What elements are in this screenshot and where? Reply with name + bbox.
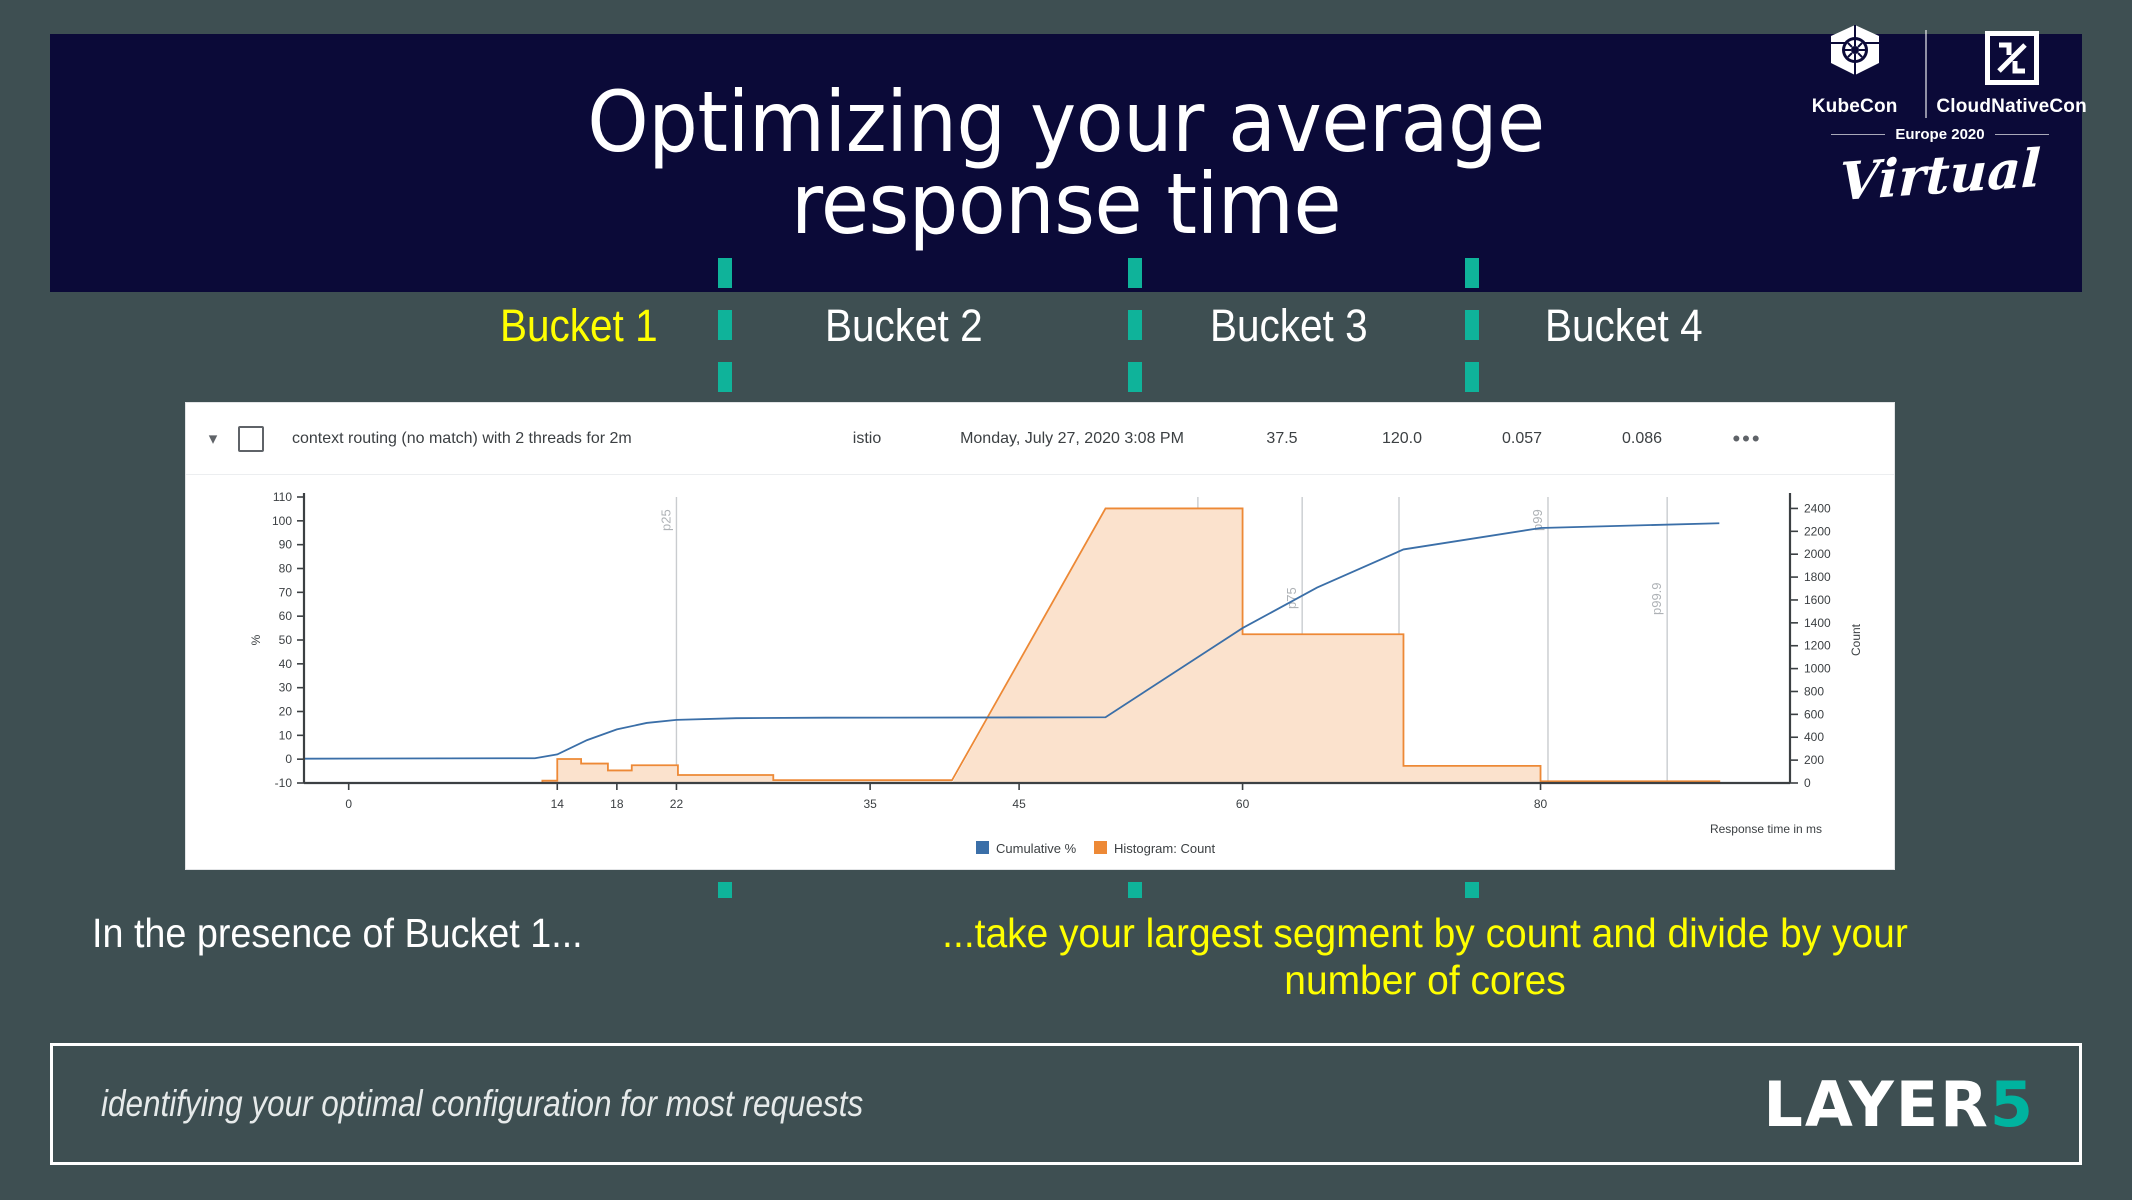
page-title: Optimizing your average response time	[471, 81, 1661, 246]
logo-divider	[1925, 30, 1927, 118]
kubecon-cloudnativecon-logo: KubeCon CloudNativeCon Europe 2020 Virtu…	[1790, 22, 2090, 232]
result-timestamp: Monday, July 27, 2020 3:08 PM	[922, 430, 1222, 448]
bucket-label-2: Bucket 2	[825, 300, 983, 352]
x-tick-label: 18	[610, 797, 624, 811]
y2-tick-label: 400	[1804, 730, 1824, 744]
bucket-label-1: Bucket 1	[500, 300, 658, 352]
y2-tick-label: 1400	[1804, 616, 1831, 630]
edition-rule-left	[1831, 134, 1885, 135]
result-name: context routing (no match) with 2 thread…	[292, 430, 812, 448]
response-time-histogram-chart: p50p75p90p99p99.9p25-1001020304050607080…	[186, 475, 1894, 871]
y2-tick-label: 1800	[1804, 570, 1831, 584]
y2-tick-label: 2400	[1804, 501, 1831, 515]
y-tick-label: 40	[279, 657, 293, 671]
x-tick-label: 22	[670, 797, 684, 811]
result-metric-3: 0.057	[1462, 430, 1582, 448]
footer-caption: identifying your optimal configuration f…	[101, 1083, 863, 1125]
caption-left: In the presence of Bucket 1...	[92, 910, 754, 957]
legend-label-histogram: Histogram: Count	[1114, 841, 1216, 856]
edition-rule-right	[1995, 134, 2049, 135]
y-tick-label: 80	[279, 562, 293, 576]
y-tick-label: 100	[272, 514, 292, 528]
y2-tick-label: 800	[1804, 684, 1824, 698]
y-tick-label: 110	[273, 490, 292, 504]
legend-label-cumulative: Cumulative %	[996, 841, 1077, 856]
y-tick-label: 30	[279, 681, 293, 695]
more-options-icon[interactable]: •••	[1702, 426, 1792, 452]
x-tick-label: 60	[1236, 797, 1250, 811]
legend-swatch-histogram	[1094, 841, 1107, 854]
x-tick-label: 45	[1012, 797, 1026, 811]
legend-swatch-cumulative	[976, 841, 989, 854]
caption-right-line-1: ...take your largest segment by count an…	[831, 910, 2019, 957]
y2-tick-label: 2000	[1804, 547, 1831, 561]
layer5-five: 5	[1990, 1068, 2035, 1141]
result-metric-4: 0.086	[1582, 430, 1702, 448]
y-tick-label: 60	[279, 609, 293, 623]
y2-tick-label: 1200	[1804, 639, 1831, 653]
result-mesh: istio	[812, 430, 922, 448]
conference-format: Virtual	[1789, 134, 2090, 216]
caption-right-line-2: number of cores	[831, 957, 2019, 1004]
kubecon-label: KubeCon	[1812, 96, 1898, 118]
cloudnativecon-label: CloudNativeCon	[1936, 96, 2087, 118]
x-tick-label: 35	[863, 797, 877, 811]
y-tick-label: 0	[285, 752, 292, 766]
percentile-label: p99.9	[1649, 582, 1664, 615]
performance-result-card: ▾ context routing (no match) with 2 thre…	[185, 402, 1895, 870]
x-tick-label: 0	[345, 797, 352, 811]
histogram-area	[542, 508, 1719, 783]
cloudnativecon-square-icon	[1985, 31, 2039, 90]
x-tick-label: 80	[1534, 797, 1548, 811]
chevron-down-icon[interactable]: ▾	[200, 429, 226, 449]
y2-tick-label: 600	[1804, 707, 1824, 721]
y2-tick-label: 2200	[1804, 524, 1831, 538]
slide-footer: identifying your optimal configuration f…	[50, 1043, 2082, 1165]
chart-canvas: p50p75p90p99p99.9p25-1001020304050607080…	[186, 475, 1894, 869]
y2-tick-label: 1000	[1804, 662, 1831, 676]
y2-tick-label: 200	[1804, 753, 1824, 767]
y2-tick-label: 1600	[1804, 593, 1831, 607]
bucket-label-4: Bucket 4	[1545, 300, 1703, 352]
y-tick-label: 70	[279, 585, 293, 599]
result-metric-1: 37.5	[1222, 430, 1342, 448]
y-tick-label: 50	[279, 633, 293, 647]
percentile-label: p25	[658, 509, 673, 531]
y-axis-label: %	[249, 634, 263, 645]
x-axis-label: Response time in ms	[1710, 822, 1822, 836]
x-tick-label: 14	[551, 797, 565, 811]
y-tick-label: 10	[279, 728, 293, 742]
slide-title-bar: Optimizing your average response time	[50, 34, 2082, 292]
result-row[interactable]: ▾ context routing (no match) with 2 thre…	[186, 403, 1894, 475]
caption-right: ...take your largest segment by count an…	[831, 910, 2019, 1004]
y2-axis-label: Count	[1849, 623, 1863, 656]
result-metric-2: 120.0	[1342, 430, 1462, 448]
layer5-logo: LAYER5	[1763, 1068, 2035, 1141]
y2-tick-label: 0	[1804, 776, 1811, 790]
y-tick-label: 90	[279, 538, 293, 552]
checkbox-unchecked-icon[interactable]	[238, 426, 264, 452]
kubernetes-helm-icon	[1826, 23, 1884, 90]
y-tick-label: 20	[279, 705, 293, 719]
conference-edition: Europe 2020	[1895, 126, 1984, 143]
bucket-label-3: Bucket 3	[1210, 300, 1368, 352]
layer5-wordmark: LAYER	[1763, 1068, 1990, 1141]
y-tick-label: -10	[275, 776, 293, 790]
bucket-label-row: Bucket 1 Bucket 2 Bucket 3 Bucket 4	[0, 300, 2132, 380]
